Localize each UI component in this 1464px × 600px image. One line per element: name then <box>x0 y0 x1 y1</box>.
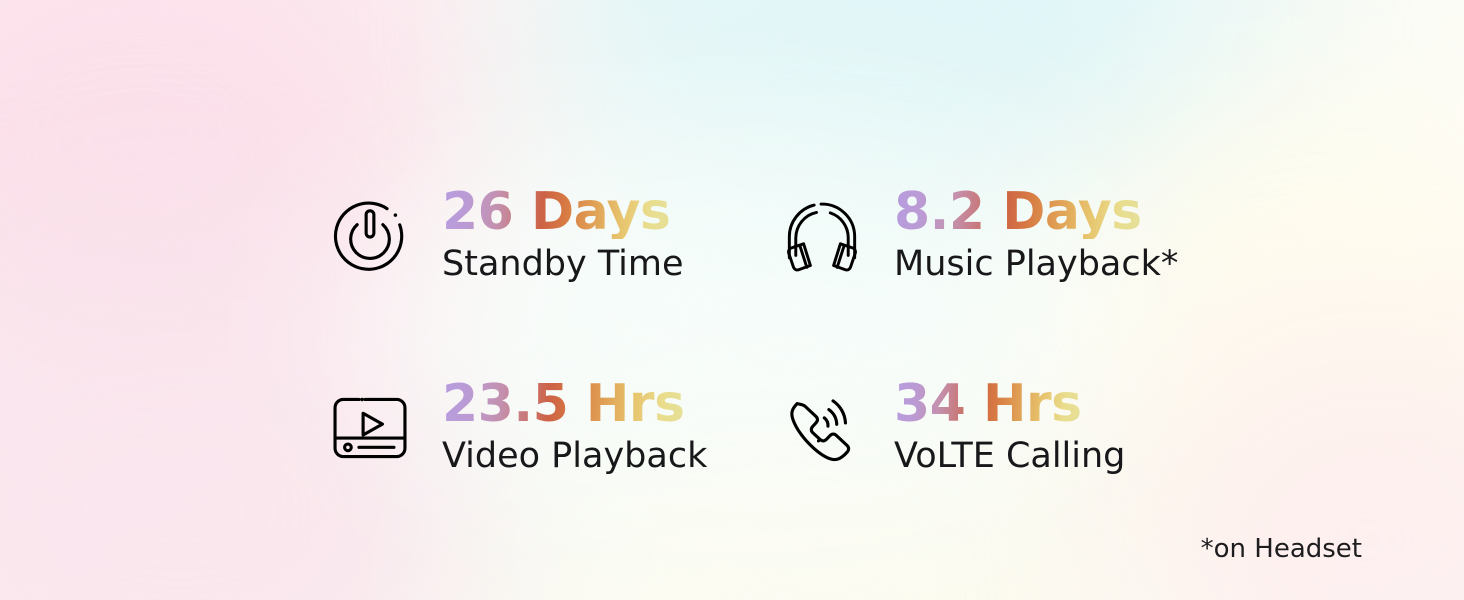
spec-value: 34 Hrs <box>894 378 1082 431</box>
spec-value: 26 Days <box>442 186 670 239</box>
phone-call-icon <box>774 380 870 476</box>
spec-text-music-playback: 8.2 Days Music Playback* <box>894 186 1178 286</box>
video-player-icon <box>322 380 418 476</box>
spec-item-volte-calling: 34 Hrs VoLTE Calling <box>774 332 1222 524</box>
spec-text-standby-time: 26 Days Standby Time <box>442 186 684 286</box>
spec-item-standby-time: 26 Days Standby Time <box>322 140 774 332</box>
battery-spec-banner: 26 Days Standby Time 8.2 Days <box>0 0 1464 600</box>
headphones-icon <box>774 189 870 285</box>
spec-value: 23.5 Hrs <box>442 378 685 431</box>
spec-text-volte-calling: 34 Hrs VoLTE Calling <box>894 378 1125 478</box>
spec-label: VoLTE Calling <box>894 435 1125 478</box>
power-icon <box>322 189 418 285</box>
spec-value: 8.2 Days <box>894 186 1142 239</box>
spec-label: Video Playback <box>442 435 707 478</box>
spec-item-video-playback: 23.5 Hrs Video Playback <box>322 332 774 524</box>
spec-label: Standby Time <box>442 243 684 286</box>
spec-grid: 26 Days Standby Time 8.2 Days <box>322 140 1222 524</box>
footnote: *on Headset <box>1201 534 1362 564</box>
spec-text-video-playback: 23.5 Hrs Video Playback <box>442 378 707 478</box>
spec-item-music-playback: 8.2 Days Music Playback* <box>774 140 1222 332</box>
spec-label: Music Playback* <box>894 243 1178 286</box>
